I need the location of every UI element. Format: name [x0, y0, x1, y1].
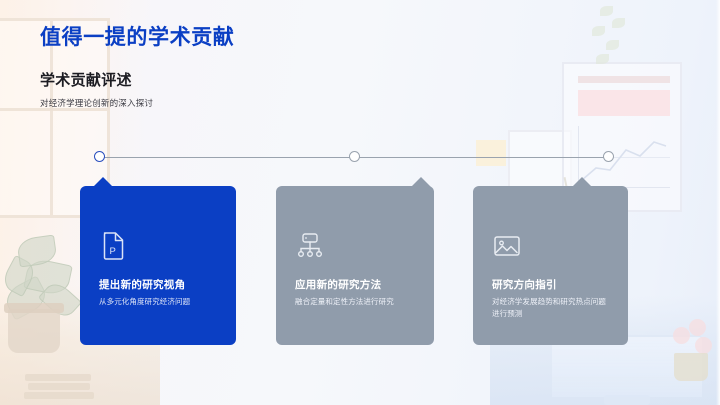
timeline-marker-2[interactable] [349, 151, 360, 162]
card-1-title: 提出新的研究视角 [99, 277, 185, 292]
card-3-title: 研究方向指引 [492, 277, 557, 292]
card-3-pointer [572, 177, 592, 187]
slide-canvas: 值得一提的学术贡献 学术贡献评述 对经济学理论创新的深入探讨 P 提出新的研究视… [0, 0, 720, 405]
image-picture-icon [492, 231, 522, 261]
card-3-text: 对经济学发展趋势和研究热点问题进行预测 [492, 296, 612, 321]
file-presentation-icon: P [99, 231, 129, 261]
card-1-pointer [93, 177, 113, 187]
card-2-pointer [411, 177, 431, 187]
timeline-marker-3[interactable] [603, 151, 614, 162]
hierarchy-sitemap-icon [295, 231, 325, 261]
timeline-marker-1[interactable] [94, 151, 105, 162]
contribution-card-1[interactable]: P 提出新的研究视角 从多元化角度研究经济问题 [80, 186, 236, 345]
card-1-text: 从多元化角度研究经济问题 [99, 296, 220, 308]
card-2-text: 融合定量和定性方法进行研究 [295, 296, 418, 308]
contribution-card-3[interactable]: 研究方向指引 对经济学发展趋势和研究热点问题进行预测 [473, 186, 628, 345]
svg-text:P: P [110, 246, 116, 257]
card-2-title: 应用新的研究方法 [295, 277, 381, 292]
contribution-card-2[interactable]: 应用新的研究方法 融合定量和定性方法进行研究 [276, 186, 434, 345]
